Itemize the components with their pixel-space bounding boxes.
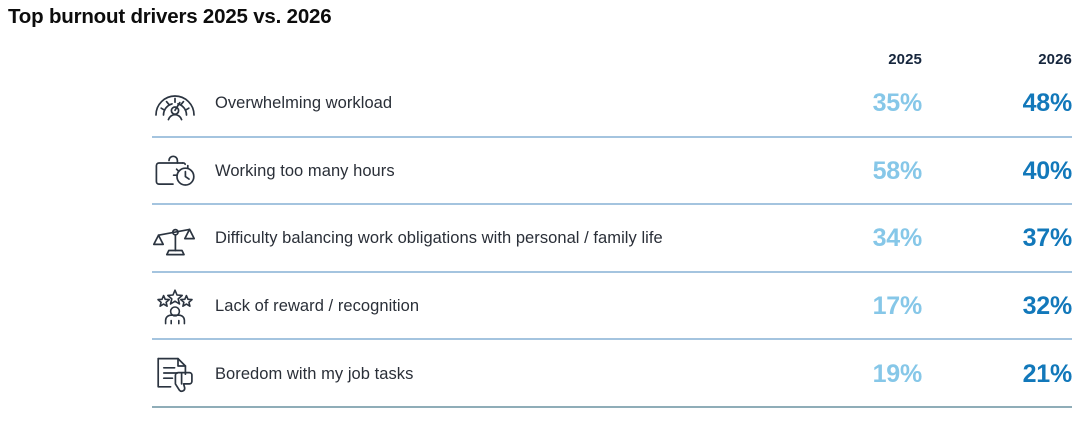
row-label: Lack of reward / recognition	[214, 297, 802, 316]
briefcase-clock-icon	[152, 148, 214, 194]
burnout-drivers-table-figure: Top burnout drivers 2025 vs. 2026 2025 2…	[0, 0, 1080, 424]
value-2025: 17%	[802, 292, 922, 321]
table-header-row: 2025 2026	[152, 42, 1072, 70]
row-divider	[152, 406, 1072, 408]
table-row: Overwhelming workload 35% 48%	[152, 70, 1072, 138]
row-label: Difficulty balancing work obligations wi…	[214, 229, 802, 248]
table-row: Difficulty balancing work obligations wi…	[152, 205, 1072, 273]
document-thumbs-down-icon	[152, 351, 214, 397]
value-2026: 40%	[952, 157, 1072, 186]
table-row: Working too many hours 58% 40%	[152, 138, 1072, 206]
value-2026: 21%	[952, 360, 1072, 389]
burnout-drivers-table: 2025 2026 Overwhelm	[152, 42, 1072, 408]
value-2025: 35%	[802, 89, 922, 118]
table-row: Lack of reward / recognition 17% 32%	[152, 273, 1072, 341]
value-2026: 32%	[952, 292, 1072, 321]
row-label: Working too many hours	[214, 162, 802, 181]
row-label: Overwhelming workload	[214, 94, 802, 113]
page-title: Top burnout drivers 2025 vs. 2026	[8, 5, 331, 29]
value-2025: 19%	[802, 360, 922, 389]
column-header-2026: 2026	[952, 51, 1072, 70]
balance-scales-icon	[152, 216, 214, 262]
value-2026: 48%	[952, 89, 1072, 118]
row-label: Boredom with my job tasks	[214, 365, 802, 384]
value-2026: 37%	[952, 224, 1072, 253]
gauge-person-icon	[152, 81, 214, 127]
value-2025: 58%	[802, 157, 922, 186]
value-2025: 34%	[802, 224, 922, 253]
stars-person-icon	[152, 284, 214, 330]
table-row: Boredom with my job tasks 19% 21%	[152, 340, 1072, 408]
column-header-2025: 2025	[802, 51, 922, 70]
